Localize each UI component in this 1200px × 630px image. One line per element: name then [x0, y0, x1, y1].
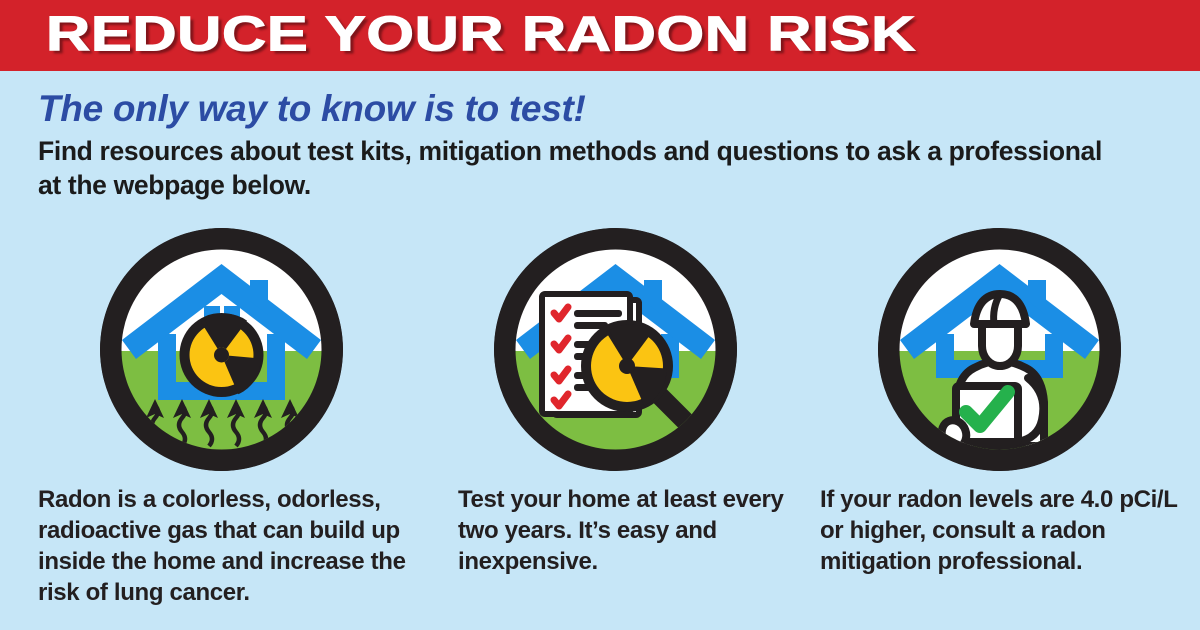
- house-worker-clipboard-check-icon: [878, 228, 1121, 471]
- card-caption: Radon is a colorless, odorless, radioact…: [38, 485, 438, 609]
- house-checklist-magnifier-radiation-icon: [494, 228, 737, 471]
- info-card-consult-professional: If your radon levels are 4.0 pCi/L or hi…: [820, 228, 1180, 578]
- page-title: REDUCE YOUR RADON RISK: [46, 10, 916, 59]
- intro-block: The only way to know is to test! Find re…: [38, 88, 1168, 202]
- house-radiation-soil-gas-icon: [100, 228, 343, 471]
- info-cards-row: Radon is a colorless, odorless, radioact…: [0, 228, 1200, 628]
- subheadline: Find resources about test kits, mitigati…: [38, 135, 1128, 202]
- info-card-radon-gas: Radon is a colorless, odorless, radioact…: [38, 228, 438, 609]
- card-caption: If your radon levels are 4.0 pCi/L or hi…: [820, 485, 1180, 578]
- card-caption: Test your home at least every two years.…: [458, 485, 788, 578]
- info-card-test-home: Test your home at least every two years.…: [458, 228, 818, 578]
- header-banner: REDUCE YOUR RADON RISK: [0, 0, 1200, 71]
- headline: The only way to know is to test!: [38, 88, 1168, 129]
